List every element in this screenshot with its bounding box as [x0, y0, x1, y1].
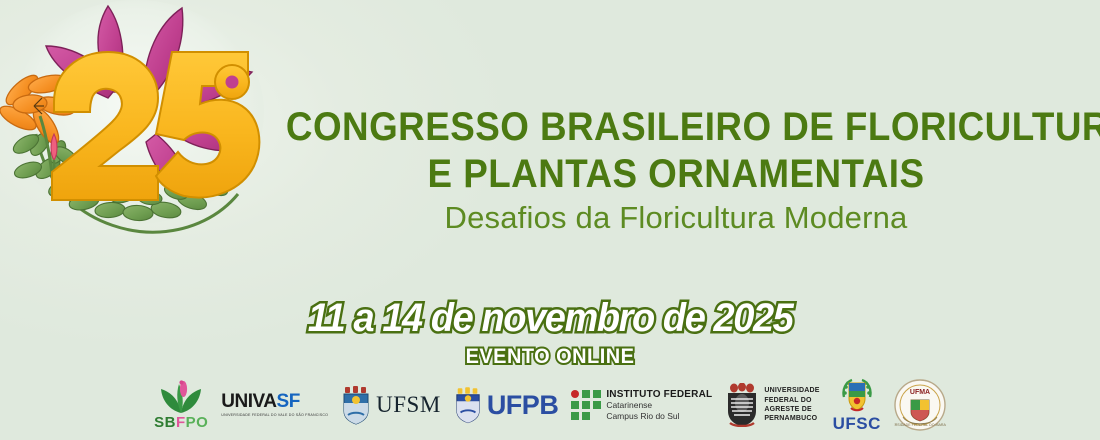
instituto-federal-line1: INSTITUTO FEDERAL: [606, 389, 712, 401]
logo-univasf: UNIVASF UNIVERSIDADE FEDERAL DO VALE DO …: [221, 376, 328, 434]
sponsor-logo-strip: SBFPO UNIVASF UNIVERSIDADE FEDERAL DO VA…: [0, 370, 1100, 440]
logo-sbfpo: SBFPO: [154, 376, 208, 434]
instituto-federal-line2: Catarinense: [606, 400, 712, 411]
ufsc-wordmark: UFSC: [833, 414, 881, 434]
event-mode: EVENTO ONLINE: [28, 345, 1073, 369]
event-banner: CONGRESSO BRASILEIRO DE FLORICULTURA E P…: [0, 0, 1100, 440]
univasf-part2: SF: [277, 391, 300, 412]
logo-ufsm: UFSM: [341, 376, 441, 434]
sbfpo-part3: PO: [186, 414, 209, 431]
instituto-federal-line3: Campus Rio do Sul: [606, 411, 712, 422]
event-title: CONGRESSO BRASILEIRO DE FLORICULTURA E P…: [252, 104, 1100, 198]
event-subtitle: Desafios da Floricultura Moderna: [252, 200, 1100, 236]
event-date-block: 11 a 14 de novembro de 2025 EVENTO ONLIN…: [0, 296, 1100, 369]
univasf-wordmark: UNIVASF: [221, 392, 328, 411]
ufpb-wordmark: UFPB: [487, 390, 559, 421]
svg-text:UNIVERSIDADE FEDERAL DO MARANH: UNIVERSIDADE FEDERAL DO MARANHAO: [894, 423, 946, 427]
sbfpo-wordmark: SBFPO: [154, 415, 208, 430]
logo-ufma: UFMA UNIVERSIDADE FEDERAL DO MARANHAO: [894, 376, 946, 434]
logo-ufpb: UFPB: [454, 376, 559, 434]
sbfpo-plant-icon: [159, 380, 203, 414]
ufape-line4: PERNAMBUCO: [764, 414, 819, 423]
ufape-line3: AGRESTE DE: [764, 405, 819, 414]
ufape-line1: UNIVERSIDADE: [764, 386, 819, 395]
ufape-line2: FEDERAL DO: [764, 396, 819, 405]
title-line-2: E PLANTAS ORNAMENTAIS: [286, 151, 1066, 198]
anniversary-emblem: [0, 0, 286, 256]
ufsc-crest-icon: [840, 377, 874, 413]
degree-symbol: [215, 65, 249, 99]
event-date: 11 a 14 de novembro de 2025: [308, 296, 793, 341]
ufpb-crest-icon: [454, 385, 482, 425]
ufma-seal-icon: UFMA UNIVERSIDADE FEDERAL DO MARANHAO: [894, 379, 946, 431]
sbfpo-part2: F: [176, 414, 186, 431]
univasf-tagline: UNIVERSIDADE FEDERAL DO VALE DO SÃO FRAN…: [221, 413, 328, 417]
univasf-part1: UNIVA: [221, 391, 276, 412]
logo-ufsc: UFSC: [833, 376, 881, 434]
logo-instituto-federal: INSTITUTO FEDERAL Catarinense Campus Rio…: [571, 376, 712, 434]
ufsm-wordmark: UFSM: [376, 392, 441, 418]
logo-ufape: UNIVERSIDADE FEDERAL DO AGRESTE DE PERNA…: [725, 376, 819, 434]
instituto-federal-grid-icon: [571, 390, 601, 420]
sbfpo-part1: SB: [154, 414, 176, 431]
ufsm-crest-icon: [341, 385, 371, 425]
title-line-1: CONGRESSO BRASILEIRO DE FLORICULTURA: [286, 104, 1066, 151]
ufape-crest-icon: [725, 383, 759, 427]
svg-text:UFMA: UFMA: [910, 389, 930, 396]
